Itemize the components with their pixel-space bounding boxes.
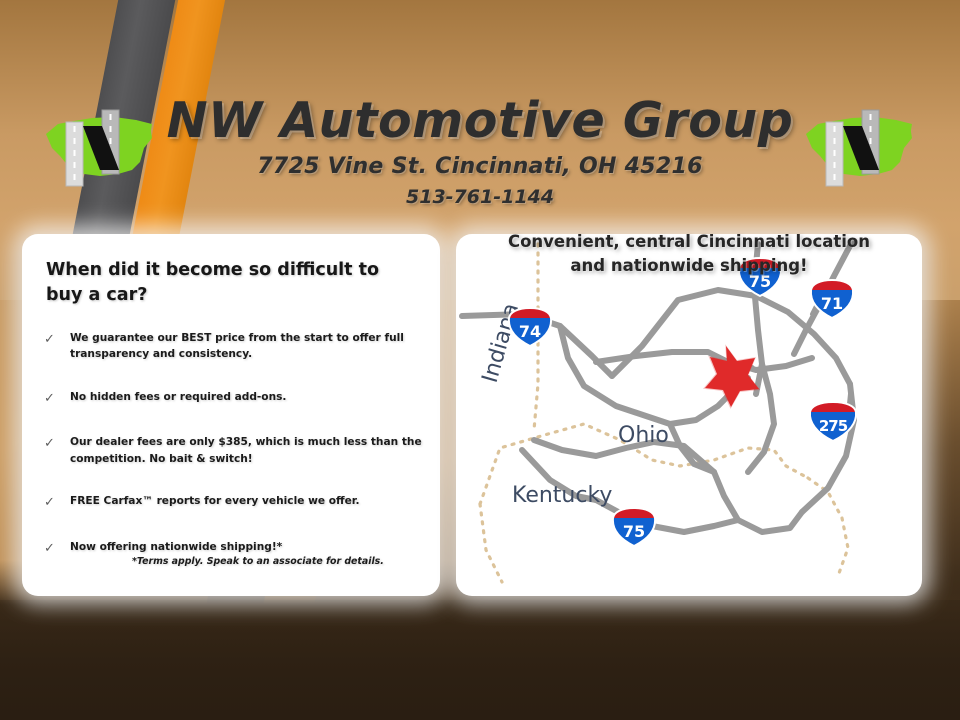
list-item: ✓ We guarantee our BEST price from the s…: [40, 330, 428, 363]
svg-text:275: 275: [819, 417, 848, 435]
interstate-75-south-shield-icon: 75: [613, 508, 655, 546]
regional-map-graphic: Ohio Kentucky Indiana 75 71 74: [456, 234, 922, 596]
nw-automotive-logo-left-icon: [40, 104, 156, 188]
slide-canvas: NW Automotive Group 7725 Vine St. Cincin…: [0, 0, 960, 720]
check-icon: ✓: [40, 434, 70, 454]
check-icon: ✓: [40, 539, 70, 559]
list-item-label: No hidden fees or required add-ons.: [70, 389, 428, 405]
map-heading-line-2: and nationwide shipping!: [456, 254, 922, 278]
svg-text:75: 75: [623, 522, 645, 541]
list-item-label: Our dealer fees are only $385, which is …: [70, 434, 428, 467]
state-label-ohio: Ohio: [618, 423, 669, 448]
nw-automotive-logo-right-icon: [800, 104, 916, 188]
panel-heading: When did it become so difficult to buy a…: [46, 258, 418, 308]
interstate-74-shield-icon: 74: [509, 308, 551, 346]
list-item-label: FREE Carfax™ reports for every vehicle w…: [70, 493, 428, 509]
check-icon: ✓: [40, 493, 70, 513]
state-label-kentucky: Kentucky: [512, 483, 612, 508]
list-item-label: We guarantee our BEST price from the sta…: [70, 330, 428, 363]
map-heading: Convenient, central Cincinnati location …: [456, 230, 922, 278]
background-dark-fade: [0, 600, 960, 720]
phone-number: 513-761-1144: [0, 186, 960, 208]
svg-text:71: 71: [821, 294, 843, 313]
benefits-list: ✓ We guarantee our BEST price from the s…: [40, 330, 428, 584]
check-icon: ✓: [40, 389, 70, 409]
value-proposition-panel: When did it become so difficult to buy a…: [22, 234, 440, 596]
map-heading-line-1: Convenient, central Cincinnati location: [456, 230, 922, 254]
list-item: ✓ Our dealer fees are only $385, which i…: [40, 434, 428, 467]
list-item: ✓ FREE Carfax™ reports for every vehicle…: [40, 493, 428, 513]
check-icon: ✓: [40, 330, 70, 350]
svg-text:74: 74: [519, 322, 541, 341]
terms-disclaimer: *Terms apply. Speak to an associate for …: [132, 556, 422, 567]
list-item-label: Now offering nationwide shipping!*: [70, 539, 428, 555]
list-item: ✓ No hidden fees or required add-ons.: [40, 389, 428, 409]
map-panel: Convenient, central Cincinnati location …: [456, 234, 922, 596]
